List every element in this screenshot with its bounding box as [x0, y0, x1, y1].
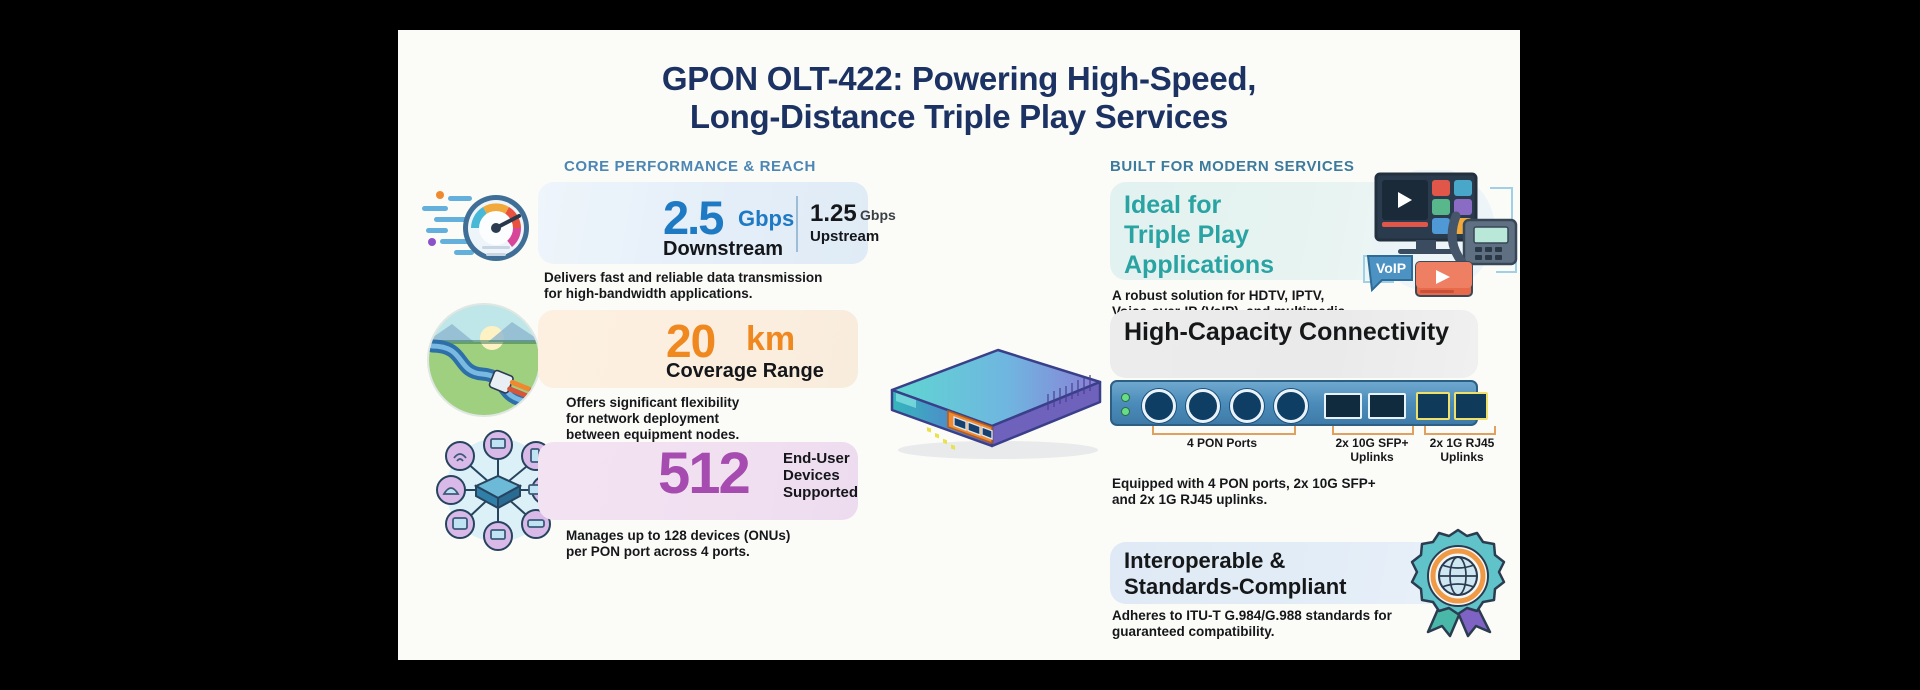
page-title-line-2: Long-Distance Triple Play Services: [398, 98, 1520, 136]
port-label-rj45-line-1: 2x 1G RJ45: [1422, 436, 1502, 450]
olt-device-icon: [880, 338, 1110, 463]
triple-play-heading: Ideal for Triple Play Applications: [1124, 190, 1274, 280]
downstream-label: Downstream: [663, 238, 783, 261]
downstream-unit: Gbps: [738, 206, 794, 232]
triple-play-heading-line-1: Ideal for: [1124, 190, 1274, 220]
card-devices: 512 End-User Devices Supported: [538, 442, 858, 520]
caption-devices: Manages up to 128 devices (ONUs) per PON…: [566, 528, 796, 560]
devices-label-line-2: Devices: [783, 467, 858, 484]
port-label-rj45-line-2: Uplinks: [1422, 450, 1502, 464]
screenshot-stage: GPON OLT-422: Powering High-Speed, Long-…: [0, 0, 1920, 690]
port-group-bracket: [1152, 426, 1296, 435]
coverage-unit: km: [746, 320, 795, 359]
caption-coverage: Offers significant flexibility for netwo…: [566, 395, 756, 443]
pon-port: [1142, 389, 1176, 423]
standards-heading-line-2: Standards-Compliant: [1124, 574, 1346, 600]
left-column-header: CORE PERFORMANCE & REACH: [564, 158, 816, 175]
upstream-label: Upstream: [810, 228, 879, 245]
standards-heading: Interoperable & Standards-Compliant: [1124, 548, 1346, 600]
sfp-port: [1324, 393, 1362, 419]
caption-speed: Delivers fast and reliable data transmis…: [544, 270, 824, 302]
rj45-port: [1454, 392, 1488, 420]
caption-standards: Adheres to ITU-T G.984/G.988 standards f…: [1112, 608, 1392, 640]
card-coverage: 20 km Coverage Range: [538, 310, 858, 388]
port-group-bracket: [1332, 426, 1414, 435]
page-title: GPON OLT-422: Powering High-Speed, Long-…: [398, 60, 1520, 136]
speedometer-icon: [420, 180, 540, 275]
port-label-pon: 4 PON Ports: [1152, 436, 1292, 450]
downstream-value: 2.5: [663, 190, 722, 245]
status-led: [1121, 393, 1130, 402]
tv-voip-media-icon: VoIP: [1338, 170, 1528, 300]
right-column-header: BUILT FOR MODERN SERVICES: [1110, 158, 1354, 175]
devices-label-line-3: Supported: [783, 484, 858, 501]
page-title-line-1: GPON OLT-422: Powering High-Speed,: [398, 60, 1520, 98]
status-led: [1121, 407, 1130, 416]
caption-connectivity: Equipped with 4 PON ports, 2x 10G SFP+ a…: [1112, 476, 1402, 508]
devices-value: 512: [658, 440, 749, 507]
port-panel-icon: [1110, 380, 1478, 426]
fiber-cable-icon: [426, 302, 542, 418]
devices-label: End-User Devices Supported: [783, 450, 858, 501]
port-label-pon-line-1: 4 PON Ports: [1152, 436, 1292, 450]
upstream-value: 1.25: [810, 200, 857, 228]
card-connectivity: High-Capacity Connectivity: [1110, 310, 1478, 378]
pon-port: [1230, 389, 1264, 423]
card-speed: 2.5 Gbps Downstream 1.25 Gbps Upstream: [538, 182, 868, 264]
connectivity-heading: High-Capacity Connectivity: [1124, 318, 1449, 347]
rj45-port: [1416, 392, 1450, 420]
triple-play-heading-line-2: Triple Play: [1124, 220, 1274, 250]
standards-heading-line-1: Interoperable &: [1124, 548, 1346, 574]
port-group-bracket: [1424, 426, 1496, 435]
devices-label-line-1: End-User: [783, 450, 858, 467]
stat-divider: [796, 196, 798, 252]
coverage-label: Coverage Range: [666, 360, 824, 383]
upstream-unit: Gbps: [860, 207, 896, 223]
pon-port: [1274, 389, 1308, 423]
certificate-rosette-icon: [1404, 528, 1514, 638]
sfp-port: [1368, 393, 1406, 419]
port-label-sfp-line-1: 2x 10G SFP+: [1326, 436, 1418, 450]
port-label-sfp: 2x 10G SFP+ Uplinks: [1326, 436, 1418, 464]
port-label-rj45: 2x 1G RJ45 Uplinks: [1422, 436, 1502, 464]
pon-port: [1186, 389, 1220, 423]
triple-play-heading-line-3: Applications: [1124, 250, 1274, 280]
voip-badge-label: VoIP: [1376, 260, 1406, 276]
infographic-canvas: GPON OLT-422: Powering High-Speed, Long-…: [398, 30, 1520, 660]
port-label-sfp-line-2: Uplinks: [1326, 450, 1418, 464]
